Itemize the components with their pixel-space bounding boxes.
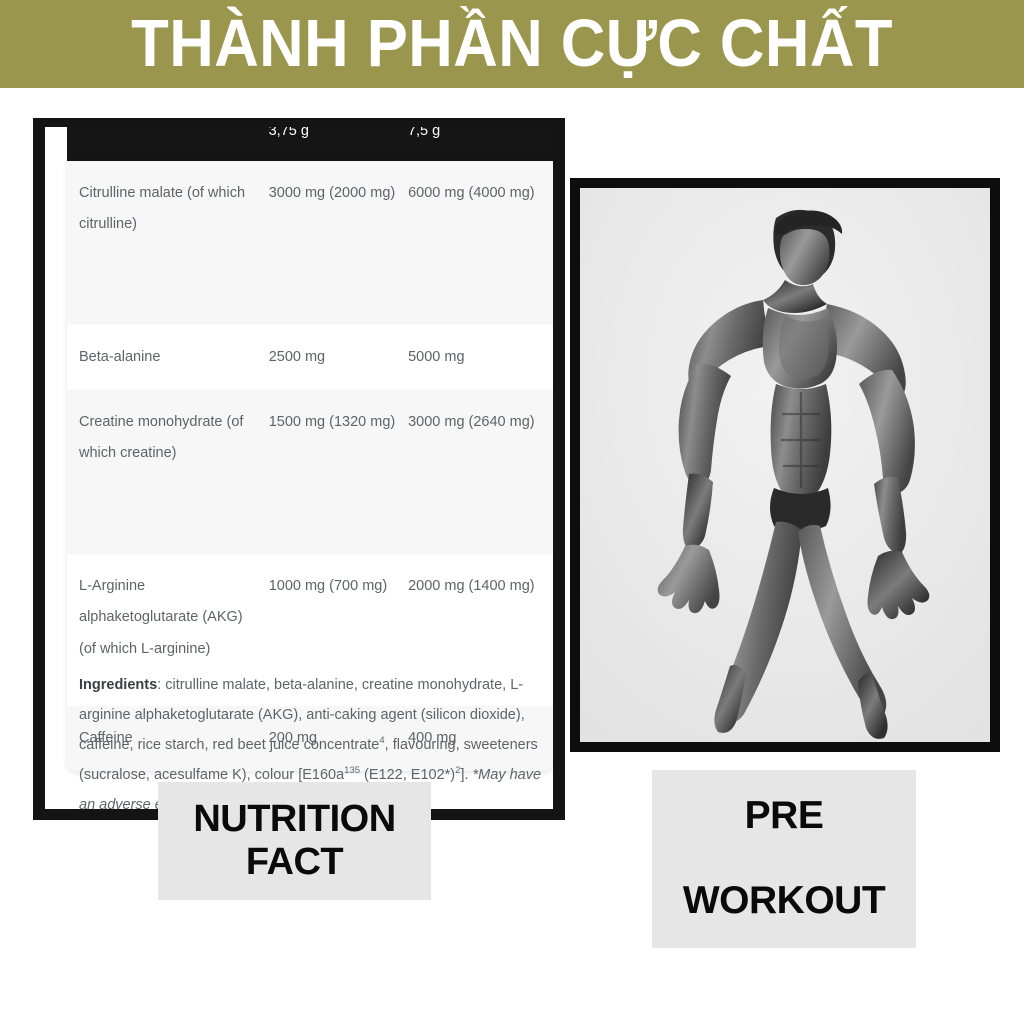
table-row: Beta-alanine 2500 mg 5000 mg bbox=[67, 325, 553, 390]
ingredients-body-4: ]. bbox=[460, 767, 472, 783]
page-title: THÀNH PHẦN CỰC CHẤT bbox=[131, 12, 893, 76]
caption-line-1: PRE bbox=[745, 795, 824, 838]
table-row: Creatine monohydrate (of which creatine)… bbox=[67, 390, 553, 554]
nutrition-screenshot: 3,75 g 7,5 g Citrulline malate (of which… bbox=[45, 127, 553, 809]
row-nutrient-name: Citrulline malate (of which citrulline) bbox=[67, 178, 269, 240]
row-amount-double: 2000 mg (1400 mg) bbox=[408, 571, 553, 602]
bodybuilder-photo-frame bbox=[570, 178, 1000, 752]
row-amount-serving: 1500 mg (1320 mg) bbox=[269, 407, 408, 438]
row-amount-serving: 2500 mg bbox=[269, 342, 408, 373]
row-nutrient-name: L-Arginine alphaketoglutarate (AKG) (of … bbox=[67, 571, 269, 665]
row-nutrient-name: Beta-alanine bbox=[67, 342, 269, 373]
ingredients-label: Ingredients bbox=[79, 677, 157, 693]
caption-pre-workout: PRE WORKOUT bbox=[652, 770, 916, 948]
bodybuilder-photo bbox=[580, 188, 990, 742]
header-banner: THÀNH PHẦN CỰC CHẤT bbox=[0, 0, 1024, 88]
bodybuilder-illustration bbox=[580, 188, 990, 742]
row-amount-serving: 1000 mg (700 mg) bbox=[269, 571, 408, 602]
row-amount-double: 6000 mg (4000 mg) bbox=[408, 178, 553, 209]
caption-line-2: WORKOUT bbox=[683, 880, 885, 923]
footnote-marker-135: 135 bbox=[344, 765, 360, 776]
caption-nutrition-fact: NUTRITION FACT bbox=[158, 782, 431, 900]
nutrition-facts-panel: 3,75 g 7,5 g Citrulline malate (of which… bbox=[33, 118, 565, 820]
row-amount-serving: 3000 mg (2000 mg) bbox=[269, 178, 408, 209]
ingredients-separator: : bbox=[157, 677, 165, 693]
table-header-cell-serving: 3,75 g bbox=[269, 127, 408, 139]
table-row: Citrulline malate (of which citrulline) … bbox=[67, 161, 553, 325]
row-amount-double: 5000 mg bbox=[408, 342, 553, 373]
row-nutrient-name: Creatine monohydrate (of which creatine) bbox=[67, 407, 269, 469]
table-header-cell-double-serving: 7,5 g bbox=[408, 127, 553, 139]
table-header: 3,75 g 7,5 g bbox=[67, 127, 553, 161]
caption-line-2: FACT bbox=[246, 841, 343, 884]
row-amount-double: 3000 mg (2640 mg) bbox=[408, 407, 553, 438]
ingredients-body-3: (E122, E102*) bbox=[360, 767, 455, 783]
caption-line-1: NUTRITION bbox=[193, 798, 395, 841]
